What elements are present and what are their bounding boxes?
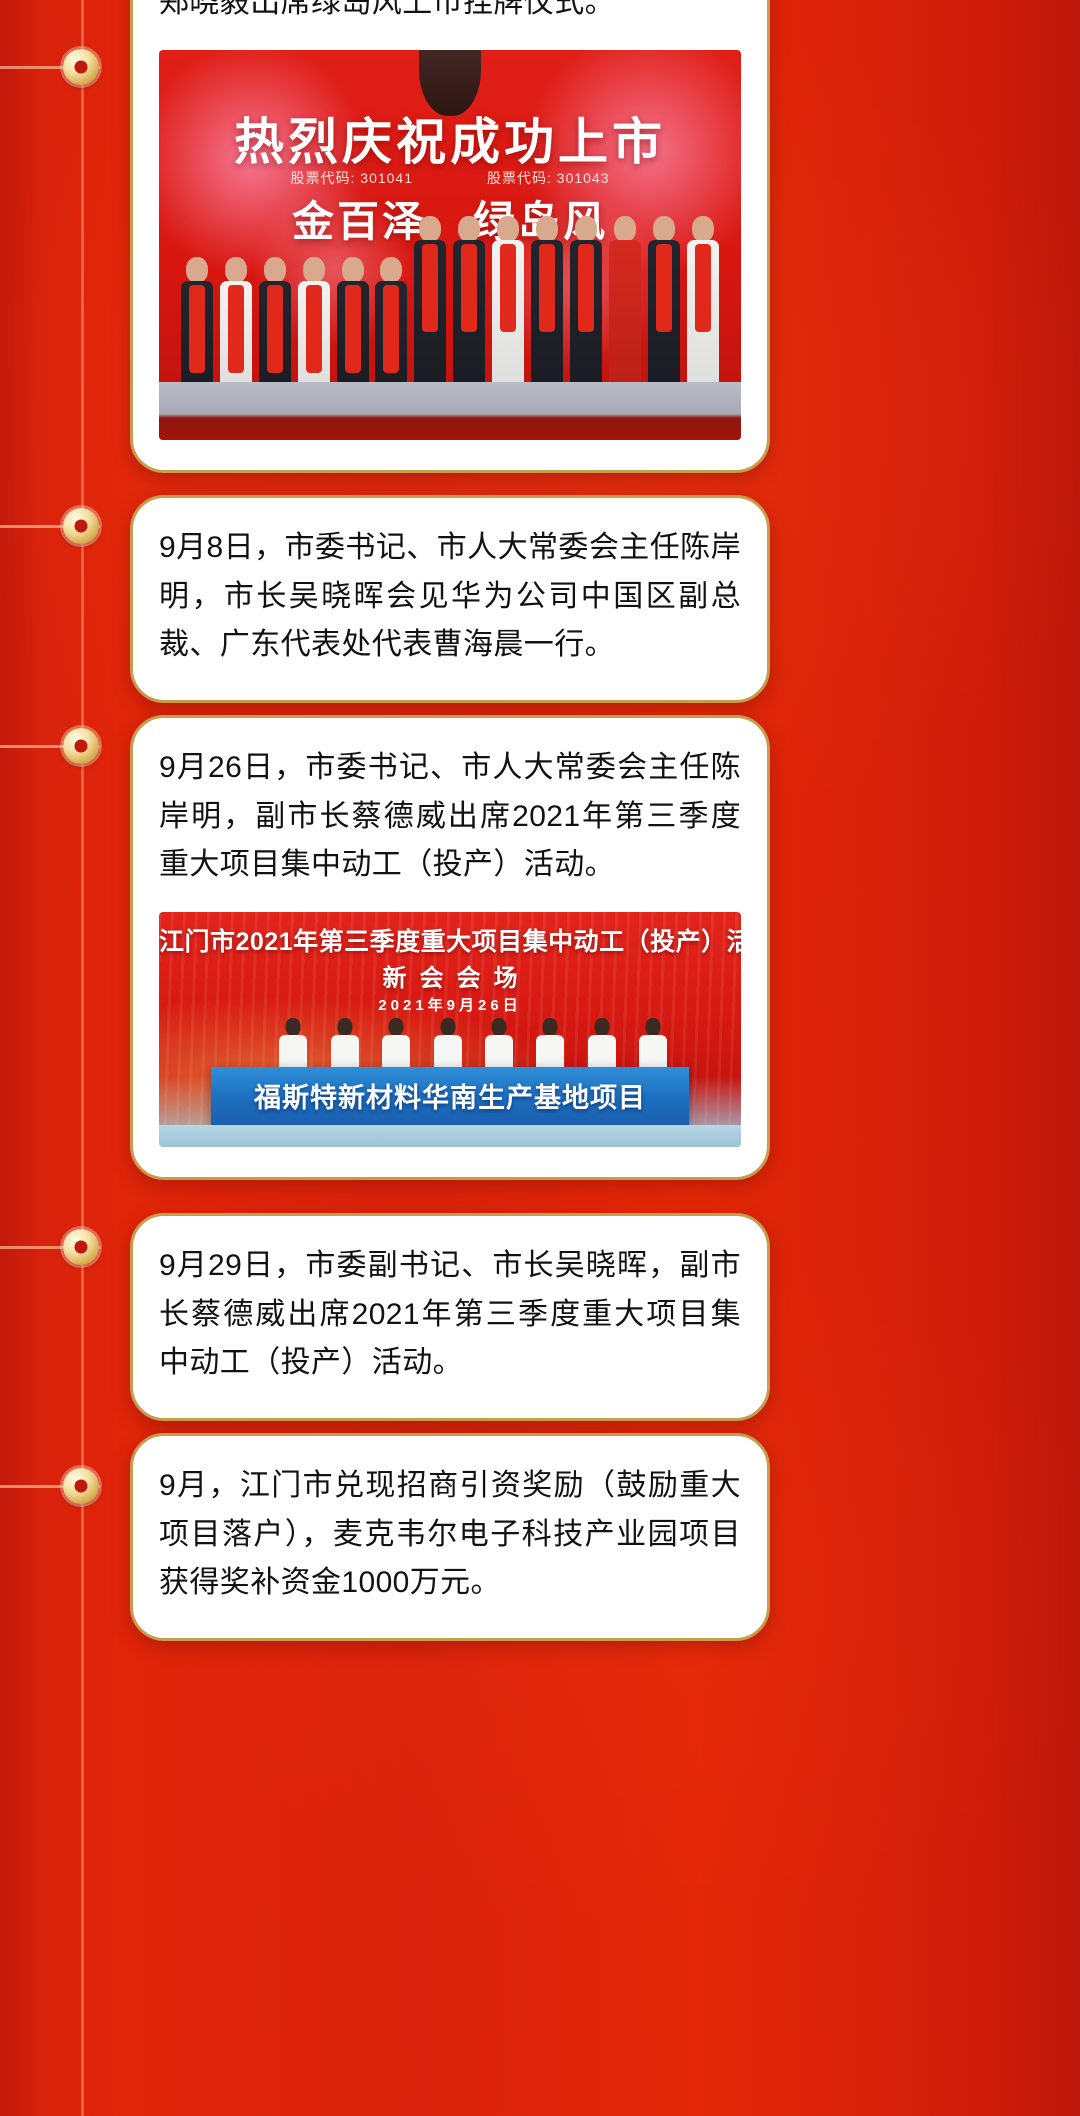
timeline-card-sep-incentive[interactable]: 9月，江门市兑现招商引资奖励（鼓励重大项目落户），麦克韦尔电子科技产业园项目获得…	[130, 1433, 770, 1641]
timeline-node[interactable]	[63, 508, 99, 544]
ipo-celebration-photo: 热烈庆祝成功上市 股票代码: 301041 股票代码: 301043 金百泽 绿…	[159, 50, 741, 440]
ceremony-photo-venue: 新会会场	[159, 958, 741, 993]
timeline-card-sep8[interactable]: 9月8日，市委书记、市人大常委会主任陈岸明，市长吴晓晖会见华为公司中国区副总裁、…	[130, 495, 770, 703]
person-figure	[689, 216, 718, 406]
timeline-node[interactable]	[63, 1229, 99, 1265]
ipo-photo-title: 热烈庆祝成功上市	[159, 102, 741, 174]
timeline: 郑晓毅出席绿岛风上市挂牌仪式。 热烈庆祝成功上市 股票代码: 301041 股票…	[0, 0, 1080, 2116]
ipo-stock-codes: 股票代码: 301041 股票代码: 301043	[159, 168, 741, 188]
timeline-card-text: 郑晓毅出席绿岛风上市挂牌仪式。	[159, 0, 741, 28]
timeline-card-sep29[interactable]: 9月29日，市委副书记、市长吴晓晖，副市长蔡德威出席2021年第三季度重大项目集…	[130, 1213, 770, 1421]
timeline-card-text: 9月8日，市委书记、市人大常委会主任陈岸明，市长吴晓晖会见华为公司中国区副总裁、…	[159, 524, 741, 670]
timeline-card-sep26[interactable]: 9月26日，市委书记、市人大常委会主任陈岸明，副市长蔡德威出席2021年第三季度…	[130, 715, 770, 1180]
ipo-stage-floor	[159, 382, 741, 440]
ceremony-photo-date: 2021年9月26日	[159, 994, 741, 1015]
project-banner-text: 福斯特新材料华南生产基地项目	[254, 1076, 646, 1115]
person-figure	[650, 216, 679, 406]
groundbreaking-ceremony-photo: 江门市2021年第三季度重大项目集中动工（投产）活动 新会会场 2021年9月2…	[159, 912, 741, 1147]
timeline-card-text: 9月，江门市兑现招商引资奖励（鼓励重大项目落户），麦克韦尔电子科技产业园项目获得…	[159, 1462, 741, 1608]
timeline-card-ipo[interactable]: 郑晓毅出席绿岛风上市挂牌仪式。 热烈庆祝成功上市 股票代码: 301041 股票…	[130, 0, 770, 473]
timeline-card-text: 9月26日，市委书记、市人大常委会主任陈岸明，副市长蔡德威出席2021年第三季度…	[159, 744, 741, 890]
timeline-node[interactable]	[63, 728, 99, 764]
page-background: 郑晓毅出席绿岛风上市挂牌仪式。 热烈庆祝成功上市 股票代码: 301041 股票…	[0, 0, 1080, 2116]
ceremony-stage-floor	[159, 1125, 741, 1147]
timeline-node[interactable]	[63, 49, 99, 85]
ceremony-photo-title: 江门市2021年第三季度重大项目集中动工（投产）活动	[159, 922, 741, 958]
person-figure	[611, 216, 640, 406]
stock-code-left: 股票代码: 301041	[291, 168, 414, 188]
person-figure	[494, 216, 523, 406]
stock-code-right: 股票代码: 301043	[487, 168, 610, 188]
person-figure	[572, 216, 601, 406]
ipo-group-photo-people	[182, 216, 717, 406]
timeline-node[interactable]	[63, 1468, 99, 1504]
timeline-card-text: 9月29日，市委副书记、市长吴晓晖，副市长蔡德威出席2021年第三季度重大项目集…	[159, 1242, 741, 1388]
project-banner: 福斯特新材料华南生产基地项目	[211, 1067, 688, 1125]
person-figure	[416, 216, 445, 406]
person-figure	[533, 216, 562, 406]
person-figure	[455, 216, 484, 406]
